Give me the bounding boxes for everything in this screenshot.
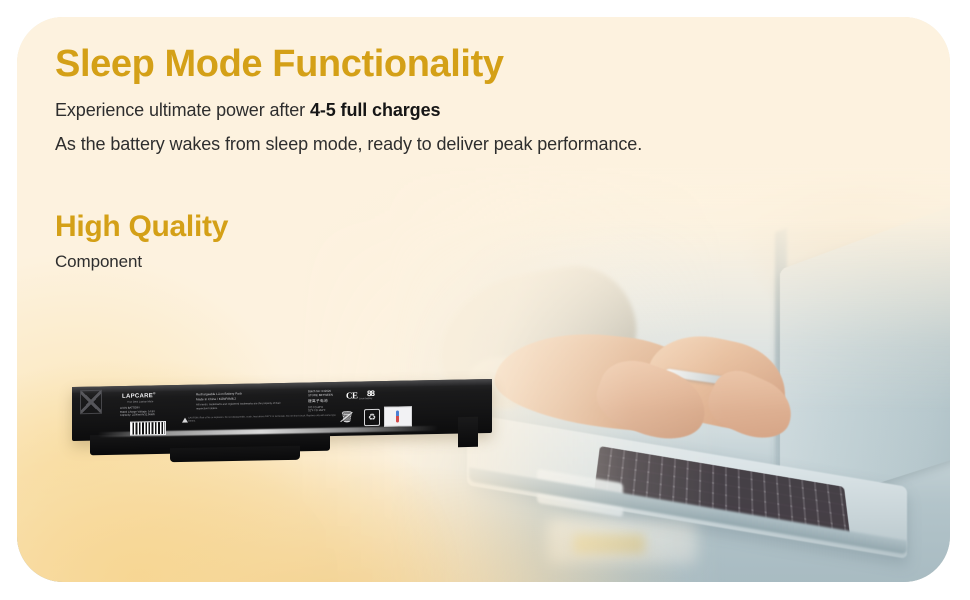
trademark-note: All brands, trademarks and registered tr… [196,402,288,411]
brand-tagline: Your Best Laptop Mate [127,400,153,404]
li-ion-icon-label: Li-ion battery [359,398,372,401]
store-label: STORE BETWEEN [308,393,333,398]
heading-sleep-mode-functionality: Sleep Mode Functionality [55,43,845,86]
heading-high-quality: High Quality [55,210,845,243]
body-wake-from-sleep: As the battery wakes from sleep mode, re… [55,132,845,156]
battery-type-line-2: Made In China / KONFAM8.2 [196,396,242,402]
subline-lead-text: Experience ultimate power after [55,100,310,120]
subline-component: Component [55,252,845,272]
thermometer-icon [384,406,412,427]
ce-mark-icon: CE [346,390,358,401]
battery-spec-left: LIION BATTERY Rated Charge Voltage: 14.8… [120,406,155,418]
recycle-icon: ♻ [364,409,380,426]
batch-info: Batch No: 042020 STORE BETWEEN [308,389,333,398]
copy-block: Sleep Mode Functionality Experience ulti… [55,43,845,272]
battery-connector-icon [80,390,102,414]
subline-experience-power: Experience ultimate power after 4-5 full… [55,98,845,122]
battery-label: LAPCARE® Your Best Laptop Mate LIION BAT… [118,386,418,436]
battery-type-line: Rechargeable Li-ion Battery Pack Made In… [196,391,242,401]
promo-banner-card: LAPCARE® Your Best Laptop Mate LIION BAT… [17,17,950,582]
barcode-stripes [130,421,166,436]
chinese-product-name: 锂离子电池 [308,399,328,404]
battery-foot [170,446,300,462]
caution-text: CAUTION: Risk of fire or explosion. Do n… [188,415,336,424]
registered-mark: ® [153,391,156,395]
battery-product-image: LAPCARE® Your Best Laptop Mate LIION BAT… [72,375,492,467]
temperature-range-text: 0°C TO 40°C 32°F TO 104°F [308,405,325,413]
temp-fahrenheit: 32°F TO 104°F [308,409,325,413]
crossed-out-bin-icon: 🗑 [340,409,353,425]
battery-latch-tab [458,417,478,447]
subline-emphasis-charges: 4-5 full charges [310,100,440,120]
